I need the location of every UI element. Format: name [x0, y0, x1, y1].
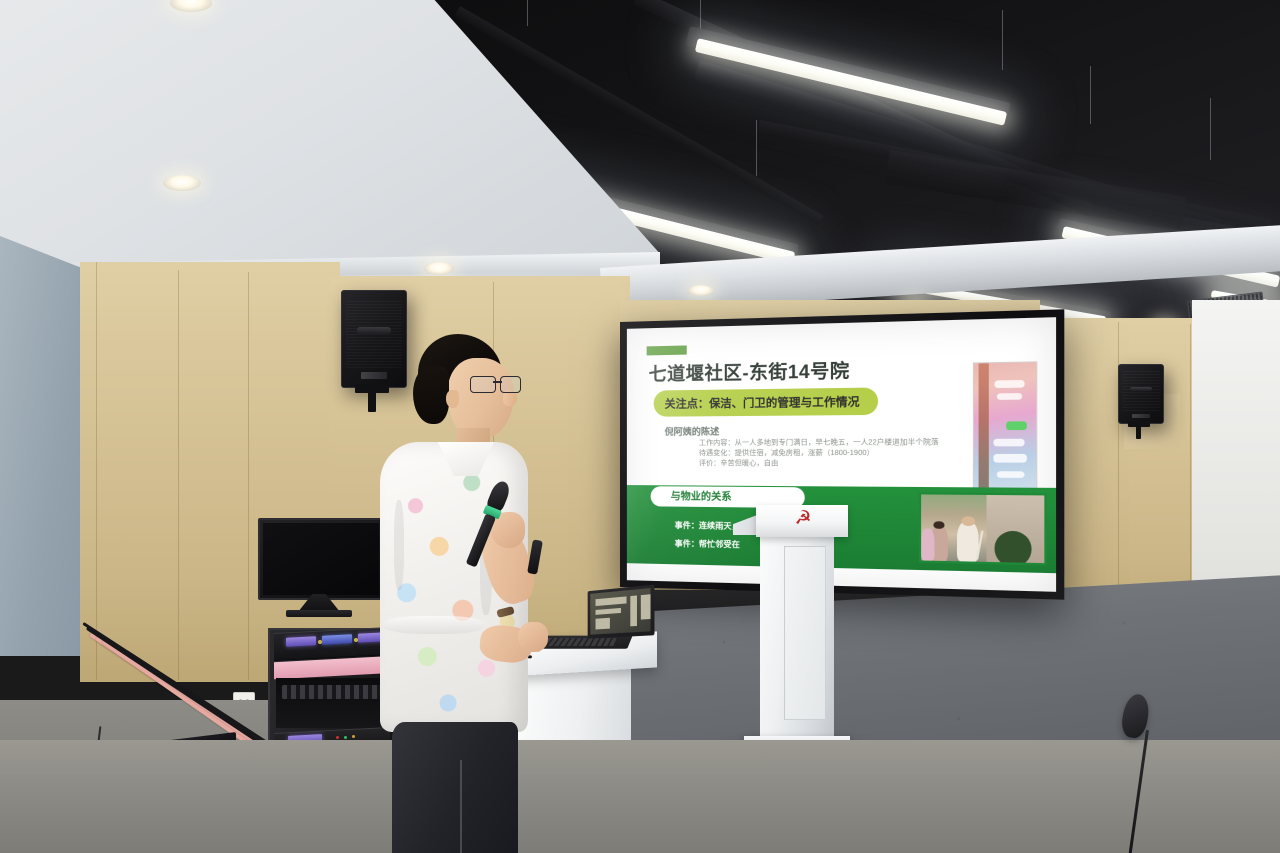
slide-highlight-text: 关注点：保洁、门卫的管理与工作情况: [665, 393, 880, 412]
rack-status-led: [344, 736, 347, 739]
slide-image-phone-chat: [973, 361, 1037, 494]
phone-photo-strip: [979, 363, 989, 493]
wall-speaker-right: [1118, 364, 1164, 424]
rack-vent-fins: [282, 685, 386, 699]
led-display-screen[interactable]: 七道堰社区-东街14号院 关注点：保洁、门卫的管理与工作情况 倪阿姨的陈述 工作…: [620, 309, 1064, 599]
slide-body-line: 工作内容：从一人多地到专门满日，早七晚五，一人22户楼道加半个院落: [699, 438, 967, 449]
party-emblem-icon: ☭: [790, 509, 816, 529]
slide-event-line: 事件：连续雨天，: [675, 520, 740, 532]
photo-person-head: [933, 521, 944, 529]
suspension-wire: [1210, 98, 1211, 160]
presenter-hair-side: [413, 366, 449, 424]
chat-bubble: [997, 471, 1025, 478]
rack-display: [286, 636, 316, 647]
shirt-fold: [394, 500, 404, 590]
left-wall-panel: [0, 236, 86, 656]
photo-bush: [994, 531, 1031, 565]
slide-canvas: 七道堰社区-东街14号院 关注点：保洁、门卫的管理与工作情况 倪阿姨的陈述 工作…: [627, 317, 1056, 592]
rack-status-led: [336, 736, 339, 739]
presentation-clicker[interactable]: [527, 539, 543, 574]
floor: [0, 740, 1280, 853]
rack-status-led: [352, 735, 355, 738]
photo-person: [921, 529, 934, 561]
slide-body-text: 工作内容：从一人多地到专门满日，早七晚五，一人22户楼道加半个院落 待遇变化：提…: [699, 438, 967, 470]
recessed-downlight: [424, 262, 454, 275]
wall-seam: [96, 262, 97, 680]
chat-bubble: [997, 393, 1022, 400]
wall-seam: [248, 272, 249, 680]
suspension-wire: [527, 0, 528, 26]
recessed-downlight: [163, 175, 201, 191]
glasses-lens-right: [500, 376, 521, 393]
control-monitor[interactable]: [258, 518, 384, 600]
laptop-ui-block: [641, 594, 651, 620]
shirt-sleeve-edge: [384, 616, 484, 634]
slide-image-street: [919, 492, 1047, 565]
monitor-foot: [286, 610, 352, 617]
speaker-port: [1130, 387, 1153, 391]
laptop-ui-block: [596, 618, 610, 630]
slide-event-line: 事件：帮忙邻受在: [675, 538, 740, 550]
glasses-lens-left: [470, 376, 496, 393]
rack-knob[interactable]: [318, 640, 322, 644]
suspension-wire: [700, 0, 701, 30]
monitor-screen: [263, 523, 379, 595]
suspension-wire: [1002, 10, 1003, 70]
slide-body-line: 评价：辛苦但暖心，自由: [699, 459, 967, 470]
slide-body-line: 待遇变化：提供住宿，减免房租，涨薪（1800-1900）: [699, 449, 967, 460]
recessed-downlight: [688, 285, 714, 296]
chat-bubble: [993, 439, 1024, 447]
photo-person: [957, 521, 978, 561]
speaker-bracket: [1136, 425, 1141, 439]
rack-display: [322, 634, 352, 645]
wall-seam: [178, 270, 179, 680]
presenter-pants: [392, 722, 518, 853]
glasses-bridge: [493, 381, 502, 383]
presenter-laptop[interactable]: [588, 585, 655, 639]
laptop-display: [590, 588, 650, 635]
slide-accent-tab: [647, 345, 687, 355]
presenter: [372, 330, 562, 853]
slide-section-label: 与物业的关系: [671, 487, 732, 503]
speaker-badge: [1132, 414, 1150, 419]
pants-seam: [460, 760, 462, 853]
podium-front-panel: [784, 546, 826, 720]
suspension-wire: [1090, 66, 1091, 124]
rack-knob[interactable]: [354, 638, 358, 642]
chat-bubble: [995, 380, 1025, 388]
laptop-ui-block: [596, 596, 627, 606]
presenter-ear: [446, 390, 459, 408]
room-scene: 七道堰社区-东街14号院 关注点：保洁、门卫的管理与工作情况 倪阿姨的陈述 工作…: [0, 0, 1280, 853]
slide-subheading: 倪阿姨的陈述: [665, 424, 720, 437]
wood-wall-panel: [80, 262, 340, 682]
slide-title: 七道堰社区-东街14号院: [649, 356, 850, 386]
wall-seam: [1190, 324, 1191, 614]
laptop-ui-block: [596, 608, 621, 615]
suspension-wire: [756, 120, 757, 176]
chat-bubble: [993, 454, 1026, 463]
photo-person-head: [961, 517, 974, 527]
presenter-hand-clicker: [518, 622, 548, 652]
chat-bubble-outgoing: [1006, 421, 1027, 430]
laptop-ui-block: [630, 595, 637, 626]
